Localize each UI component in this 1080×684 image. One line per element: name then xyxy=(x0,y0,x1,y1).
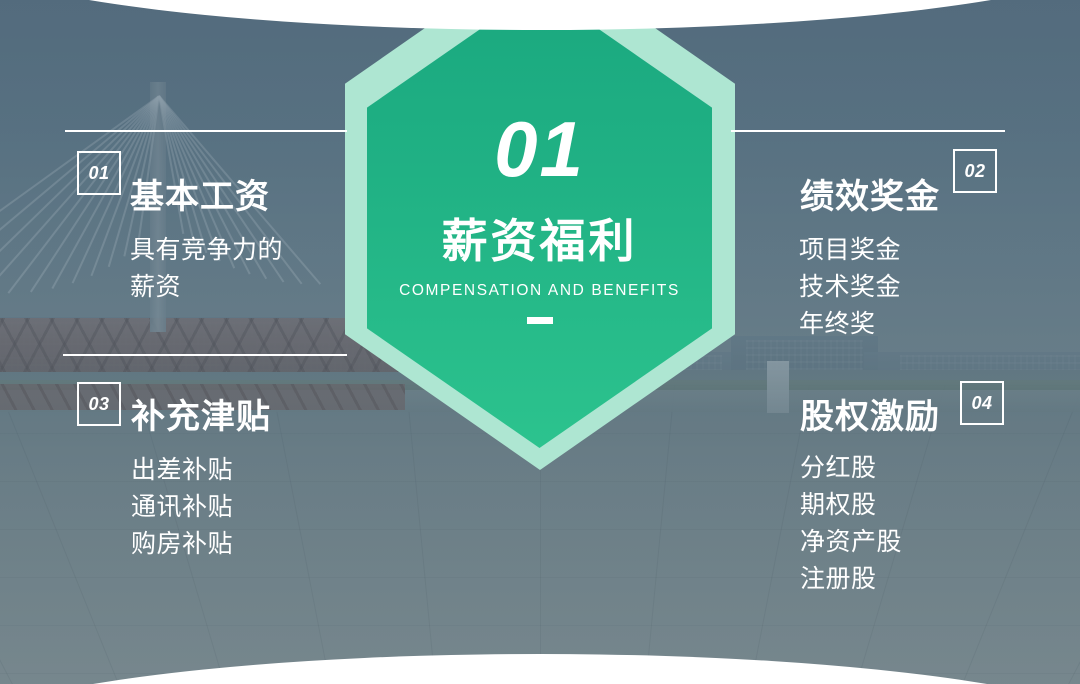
list-item: 净资产股 xyxy=(800,524,902,561)
center-divider-dash xyxy=(527,317,553,324)
badge-03: 03 xyxy=(77,382,121,426)
list-item: 具有竞争力的 xyxy=(130,232,283,269)
list-item: 薪资 xyxy=(130,269,283,306)
center-number: 01 xyxy=(494,110,585,188)
block-title-02: 绩效奖金 xyxy=(800,180,940,214)
list-item: 年终奖 xyxy=(799,306,901,343)
list-item: 分红股 xyxy=(800,450,902,487)
slide-canvas: 01 薪资福利 COMPENSATION AND BENEFITS 01 基本工… xyxy=(0,0,1080,684)
list-item: 出差补贴 xyxy=(131,452,233,489)
block-title-04: 股权激励 xyxy=(800,400,940,434)
block-items-04: 分红股 期权股 净资产股 注册股 xyxy=(800,450,902,598)
list-item: 通讯补贴 xyxy=(131,489,233,526)
list-item: 项目奖金 xyxy=(799,232,901,269)
list-item: 注册股 xyxy=(800,561,902,598)
block-items-02: 项目奖金 技术奖金 年终奖 xyxy=(799,232,901,343)
badge-02: 02 xyxy=(953,149,997,193)
center-subtitle: COMPENSATION AND BENEFITS xyxy=(399,282,680,300)
rule-top-right xyxy=(731,130,1005,132)
list-item: 期权股 xyxy=(800,487,902,524)
badge-04: 04 xyxy=(960,381,1004,425)
block-title-03: 补充津贴 xyxy=(131,400,271,434)
badge-01: 01 xyxy=(77,151,121,195)
block-title-01: 基本工资 xyxy=(130,180,270,214)
rule-top-left xyxy=(65,130,347,132)
list-item: 购房补贴 xyxy=(131,526,233,563)
list-item: 技术奖金 xyxy=(799,269,901,306)
hexagon-content: 01 薪资福利 COMPENSATION AND BENEFITS xyxy=(367,0,712,448)
block-items-01: 具有竞争力的 薪资 xyxy=(130,232,283,306)
block-items-03: 出差补贴 通讯补贴 购房补贴 xyxy=(131,452,233,563)
center-title: 薪资福利 xyxy=(442,218,638,264)
rule-bottom-left xyxy=(63,354,347,356)
